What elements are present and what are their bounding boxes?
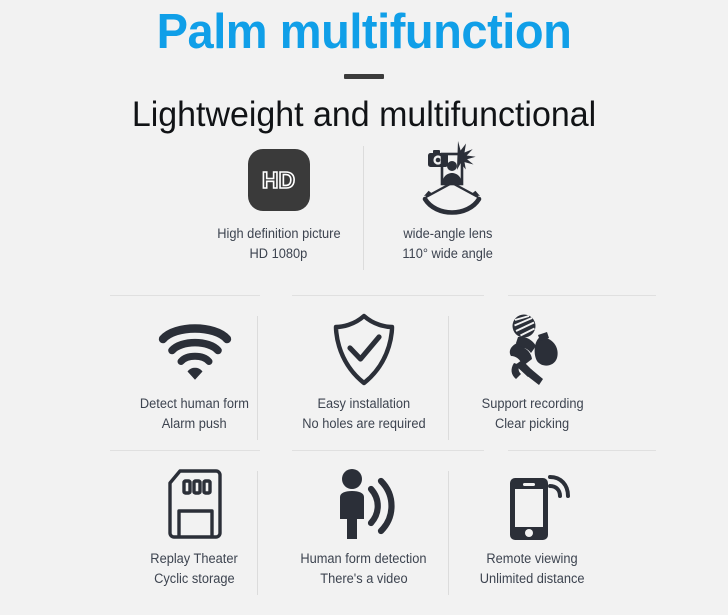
hd-badge-label: HD: [262, 167, 295, 194]
shield-check-icon: [279, 302, 448, 394]
row-divider: [110, 295, 260, 296]
feature-poster: Palm multifunction Lightweight and multi…: [0, 0, 728, 609]
feature-title: Support recording: [482, 394, 584, 414]
feature-subtitle: No holes are required: [302, 414, 425, 434]
feature-cell-wide-angle[interactable]: wide-angle lens 110° wide angle: [363, 132, 532, 290]
feature-subtitle: Cyclic storage: [154, 569, 235, 589]
sd-card-icon: [110, 457, 279, 549]
feature-title: Replay Theater: [151, 549, 238, 569]
human-detection-icon: [279, 457, 448, 549]
feature-row-2: Detect human form Alarm push Easy instal…: [110, 302, 618, 460]
feature-title: Detect human form: [140, 394, 249, 414]
feature-row-1: HD High definition picture HD 1080p: [110, 132, 618, 290]
row-divider: [110, 450, 260, 451]
feature-subtitle: 110° wide angle: [402, 244, 492, 264]
feature-row-3: Replay Theater Cyclic storage Huma: [110, 457, 618, 615]
feature-title: Easy installation: [317, 394, 410, 414]
feature-title: Remote viewing: [487, 549, 578, 569]
feature-title: High definition picture: [217, 224, 340, 244]
hd-badge-icon: HD: [194, 132, 363, 224]
feature-title: Human form detection: [300, 549, 426, 569]
feature-cell-replay-theater[interactable]: Replay Theater Cyclic storage: [110, 457, 279, 615]
feature-subtitle: There's a video: [320, 569, 407, 589]
feature-subtitle: Alarm push: [162, 414, 227, 434]
row-divider: [292, 450, 484, 451]
row-divider: [508, 450, 656, 451]
burglar-icon: [448, 302, 617, 394]
feature-cell-detect-human[interactable]: Detect human form Alarm push: [110, 302, 279, 460]
title-divider: [344, 74, 384, 79]
feature-cell-hd[interactable]: HD High definition picture HD 1080p: [194, 132, 363, 290]
feature-subtitle: Unlimited distance: [480, 569, 585, 589]
row-divider: [292, 295, 484, 296]
feature-title: wide-angle lens: [403, 224, 492, 244]
feature-cell-remote-viewing[interactable]: Remote viewing Unlimited distance: [448, 457, 617, 615]
page-title: Palm multifunction: [15, 4, 714, 60]
feature-cell-easy-installation[interactable]: Easy installation No holes are required: [279, 302, 448, 460]
wifi-icon: [110, 302, 279, 394]
smartphone-signal-icon: [448, 457, 617, 549]
feature-grid: HD High definition picture HD 1080p: [110, 132, 618, 606]
page-subtitle: Lightweight and multifunctional: [11, 94, 717, 136]
feature-cell-human-detection[interactable]: Human form detection There's a video: [279, 457, 448, 615]
row-divider: [508, 295, 656, 296]
feature-subtitle: HD 1080p: [250, 244, 308, 264]
wide-angle-lens-icon: [363, 132, 532, 224]
feature-subtitle: Clear picking: [495, 414, 569, 434]
feature-cell-support-recording[interactable]: Support recording Clear picking: [448, 302, 617, 460]
